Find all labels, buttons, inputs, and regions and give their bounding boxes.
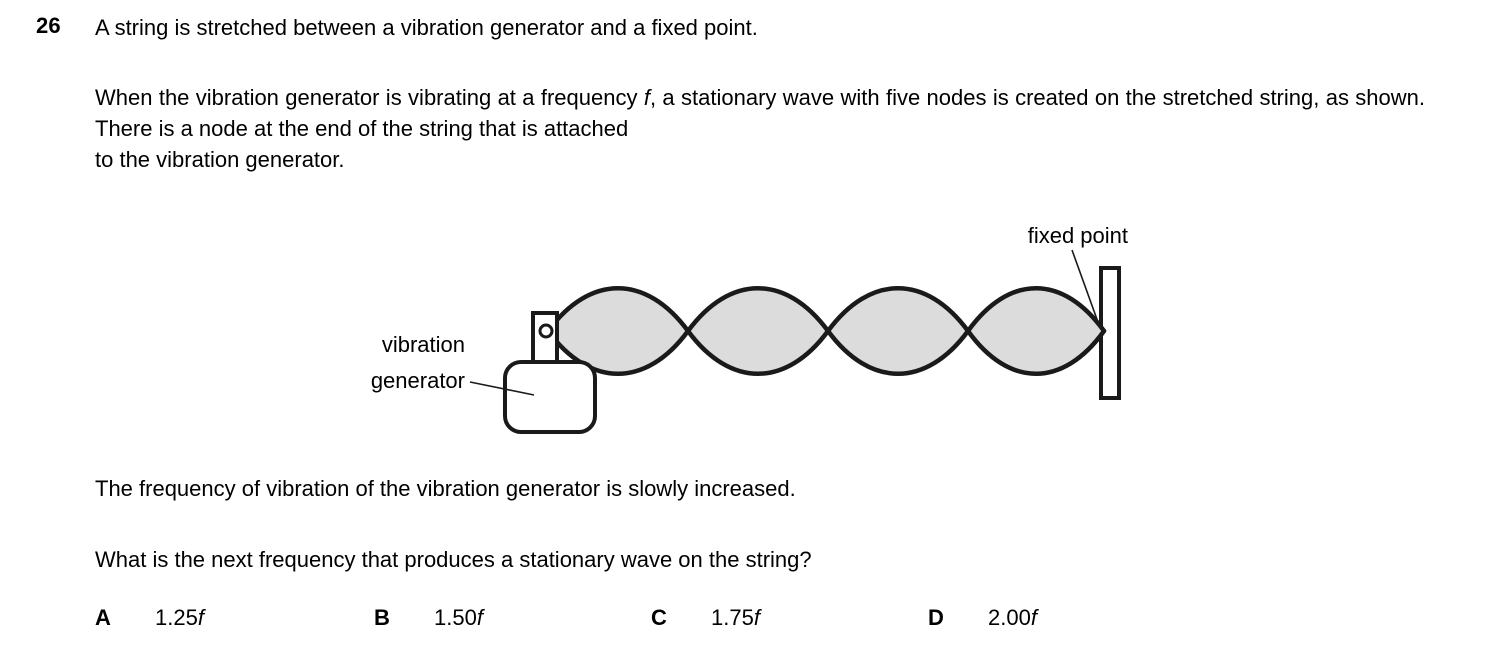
option-coefficient-d: 2.00 — [988, 605, 1031, 630]
option-symbol-c: f — [754, 605, 760, 630]
answer-options: A1.25f B1.50f C1.75f D2.00f — [95, 603, 1295, 637]
answer-option-c[interactable]: C1.75f — [651, 603, 760, 633]
option-value-a: 1.25f — [155, 603, 204, 633]
wave-loop-fill-2 — [688, 288, 828, 374]
answer-option-d[interactable]: D2.00f — [928, 603, 1037, 633]
generator-label-line-1: vibration — [382, 332, 465, 357]
option-letter-d: D — [928, 603, 988, 633]
option-coefficient-b: 1.50 — [434, 605, 477, 630]
option-symbol-a: f — [198, 605, 204, 630]
option-coefficient-c: 1.75 — [711, 605, 754, 630]
statement-frequency-increased: The frequency of vibration of the vibrat… — [95, 474, 1435, 504]
string-attachment-point-icon — [540, 325, 552, 337]
wave-loop-fill-3 — [828, 288, 968, 374]
option-symbol-b: f — [477, 605, 483, 630]
question-number: 26 — [36, 13, 61, 39]
option-letter-a: A — [95, 603, 155, 633]
option-value-b: 1.50f — [434, 603, 483, 633]
option-value-c: 1.75f — [711, 603, 760, 633]
question-paragraph: When the vibration generator is vibratin… — [95, 82, 1425, 175]
stationary-wave-diagram: fixed point vibration generator — [0, 195, 1500, 445]
wave-loop-fill-4 — [968, 288, 1104, 374]
generator-post-icon — [533, 313, 557, 367]
option-symbol-d: f — [1031, 605, 1037, 630]
vibration-generator-body-icon — [505, 362, 595, 432]
question-stem: A string is stretched between a vibratio… — [95, 13, 1435, 43]
generator-label-line-2: generator — [371, 368, 465, 393]
answer-option-a[interactable]: A1.25f — [95, 603, 204, 633]
option-letter-c: C — [651, 603, 711, 633]
exam-question-page: 26 A string is stretched between a vibra… — [0, 0, 1500, 649]
wave-loops — [548, 288, 1104, 374]
option-letter-b: B — [374, 603, 434, 633]
option-coefficient-a: 1.25 — [155, 605, 198, 630]
paragraph-last-line: to the vibration generator. — [95, 144, 1425, 175]
answer-option-b[interactable]: B1.50f — [374, 603, 483, 633]
question-prompt: What is the next frequency that produces… — [95, 545, 1435, 575]
fixed-point-label: fixed point — [1028, 223, 1128, 248]
option-value-d: 2.00f — [988, 603, 1037, 633]
paragraph-part-1: When the vibration generator is vibratin… — [95, 85, 644, 110]
